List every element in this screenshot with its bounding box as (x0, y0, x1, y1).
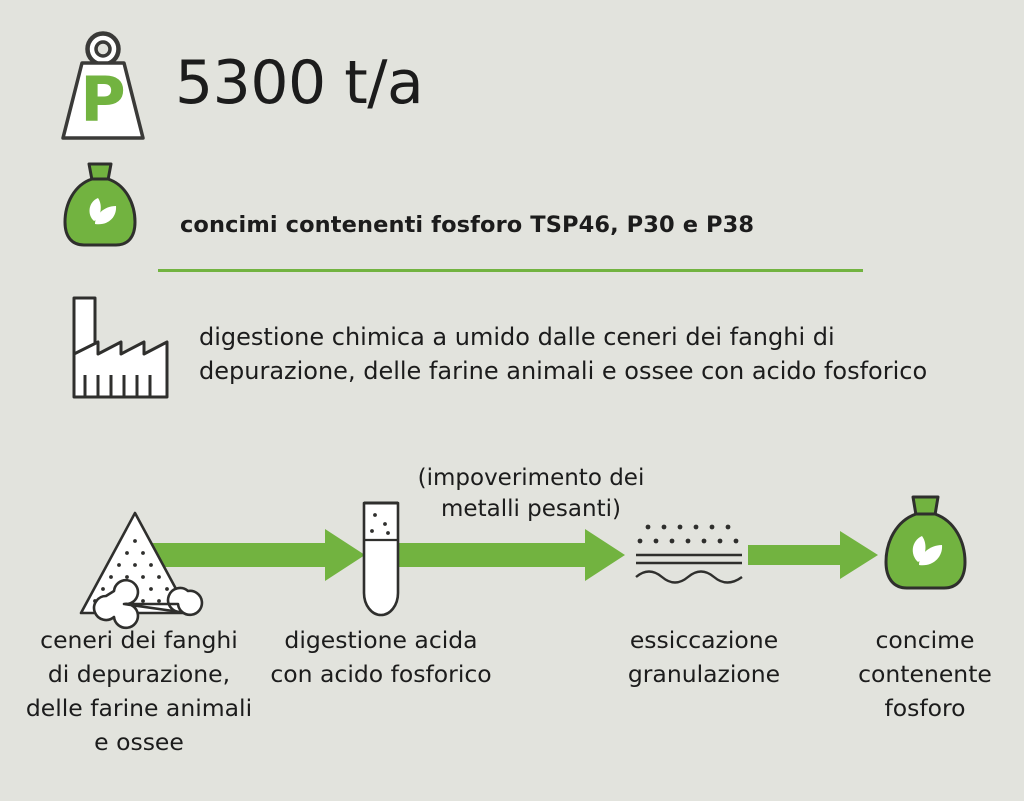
weight-icon: P (55, 30, 151, 142)
flow-step-labels: ceneri dei fanghi di depurazione, delle … (0, 623, 1024, 793)
product-row: concimi contenenti fosforo TSP46, P30 e … (58, 158, 754, 250)
fertilizer-bag-icon (886, 497, 965, 588)
drying-granulation-icon (636, 525, 742, 583)
flow-arrow-1 (140, 529, 365, 581)
fertilizer-bag-icon (58, 158, 142, 250)
flow-label-fertilizer: concime contenente fosforo (836, 623, 1014, 725)
process-description: digestione chimica a umido dalle ceneri … (199, 290, 927, 388)
factory-icon (62, 292, 172, 404)
process-flow-diagram: (impoverimento dei metalli pesanti) (0, 455, 1024, 795)
test-tube-icon (364, 503, 398, 615)
flow-label-digestion: digestione acida con acido fosforico (256, 623, 506, 691)
ash-pile-bone-icon (81, 513, 202, 628)
flow-label-ash: ceneri dei fanghi di depurazione, delle … (8, 623, 270, 759)
section-divider (158, 269, 863, 272)
process-row: digestione chimica a umido dalle ceneri … (62, 290, 927, 404)
weight-icon-letter: P (80, 63, 125, 136)
infographic-canvas: P 5300 t/a concimi contenenti fosforo TS… (0, 0, 1024, 801)
flow-label-drying: essiccazione granulazione (598, 623, 810, 691)
flow-arrow-3 (748, 531, 878, 579)
tonnage-value: 5300 t/a (175, 53, 423, 119)
tonnage-row: P 5300 t/a (55, 30, 423, 142)
flow-arrow-2 (398, 529, 625, 581)
product-caption: concimi contenenti fosforo TSP46, P30 e … (180, 170, 754, 238)
